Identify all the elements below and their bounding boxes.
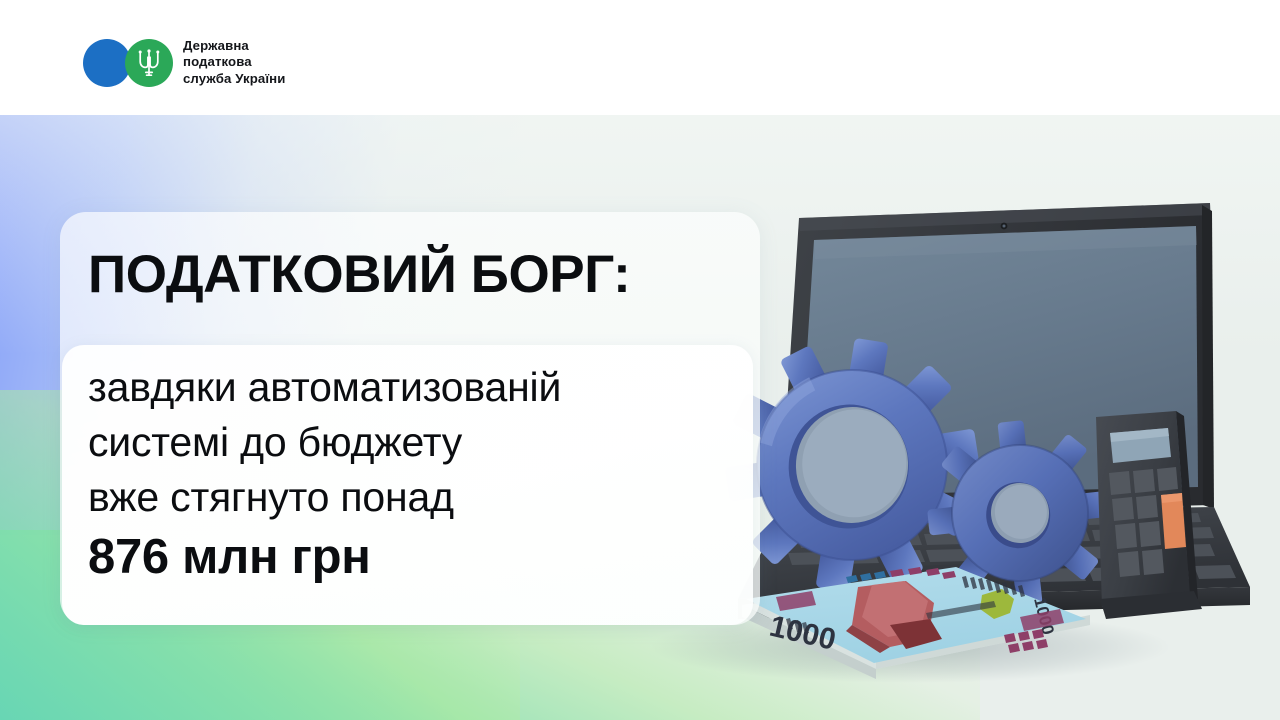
organization-logo[interactable]: Державна податкова служба України [83,38,285,87]
header-bar: Державна податкова служба України [0,0,1280,115]
org-name-line-1: Державна [183,38,285,54]
body-line-3: вже стягнуто понад [88,470,768,525]
org-name-line-3: служба України [183,71,285,87]
poster-canvas: 1000 1000 [0,0,1280,720]
organization-name: Державна податкова служба України [183,38,285,87]
org-name-line-2: податкова [183,54,285,70]
amount-value: 876 млн грн [88,529,768,585]
body-text-block: завдяки автоматизованій системі до бюдже… [88,360,768,585]
body-line-1: завдяки автоматизованій [88,360,768,415]
logo-marks [83,39,173,87]
logo-blue-circle-icon [83,39,131,87]
trident-icon [125,39,173,87]
page-title: ПОДАТКОВИЙ БОРГ: [88,248,748,301]
body-line-2: системі до бюджету [88,415,768,470]
